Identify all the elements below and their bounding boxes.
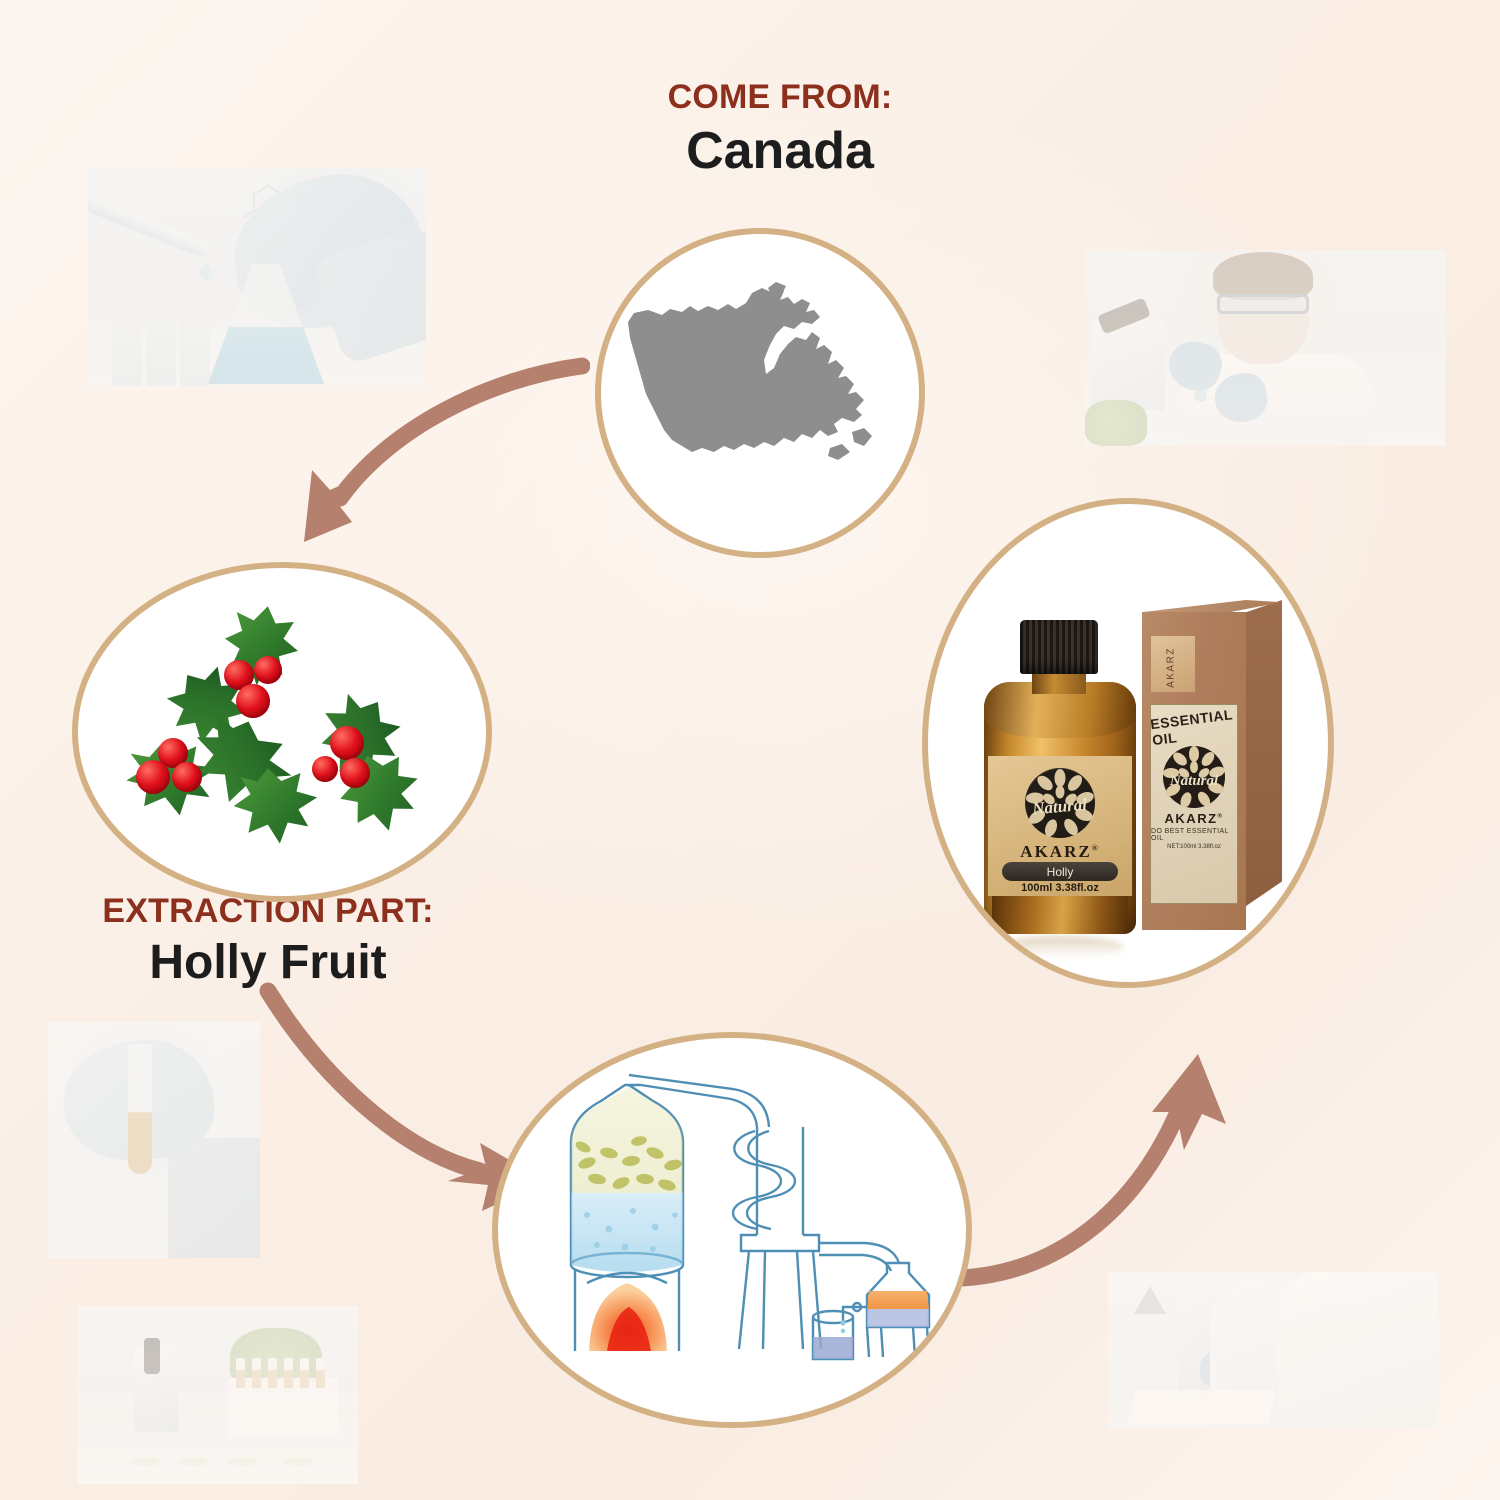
photo-hazmat-researchers [1108, 1272, 1438, 1428]
extraction-value: Holly Fruit [58, 935, 478, 990]
photo-lab-bench [78, 1306, 358, 1484]
box-tab-label: AKARZ [1166, 646, 1177, 690]
box-tagline: DO BEST ESSENTIAL OIL [1151, 828, 1237, 842]
origin-heading: COME FROM: Canada [600, 78, 960, 181]
holly-berry [330, 726, 364, 760]
distillation-apparatus-icon [517, 1065, 947, 1395]
bottle-variant-band: Holly [1002, 862, 1118, 881]
liquid-drop [200, 264, 212, 280]
holly-berry [340, 758, 370, 788]
photo-hand-testtube [48, 1022, 260, 1258]
natural-seal-graphic: Natural [1025, 768, 1095, 838]
test-tube [128, 1044, 152, 1174]
petri-dish [228, 1457, 258, 1466]
bottle-brand: AKARZ® [1020, 842, 1099, 862]
bottle-base [992, 892, 1128, 934]
product-bottle: Natural AKARZ® Holly 100ml 3.38fl.oz [980, 620, 1140, 938]
scientist-hair [1213, 252, 1313, 300]
warning-triangle-icon [1134, 1286, 1166, 1314]
glass-vial [146, 298, 176, 386]
bottle-volume: 100ml 3.38fl.oz [1021, 882, 1099, 894]
test-tube [316, 1358, 325, 1388]
bottle-label: Natural AKARZ® Holly 100ml 3.38fl.oz [988, 756, 1132, 896]
test-tube [252, 1358, 261, 1388]
extraction-heading: EXTRACTION PART: Holly Fruit [58, 892, 478, 990]
box-seal-tab: AKARZ [1151, 636, 1195, 692]
origin-circle [595, 228, 925, 558]
paper-sheet [1128, 1390, 1275, 1424]
test-tube [284, 1358, 293, 1388]
safety-goggles [1217, 294, 1309, 314]
holly-leaves-icon [102, 598, 462, 866]
petri-dish [130, 1457, 160, 1466]
glass-vial [180, 306, 210, 386]
photo-scientist-testtube [1085, 250, 1445, 446]
canada-map-icon [624, 282, 896, 504]
holly-berry [236, 684, 270, 718]
origin-value: Canada [600, 121, 960, 181]
test-tube [236, 1358, 245, 1388]
test-tube [300, 1358, 309, 1388]
box-title: ESSENTIAL OIL [1149, 706, 1238, 748]
product-circle: AKARZ ESSENTIAL OIL [922, 498, 1334, 988]
test-tube [268, 1358, 277, 1388]
plant-sample [1085, 400, 1147, 446]
holly-composition [102, 598, 462, 866]
pipette-icon [88, 197, 210, 258]
glass-vial [112, 312, 142, 386]
protective-suit [1278, 1272, 1438, 1428]
origin-kicker-label: COME FROM: [600, 78, 960, 117]
plant-circle [72, 562, 492, 902]
holly-berry [172, 762, 202, 792]
natural-seal-icon: Natural [1025, 768, 1095, 838]
box-front-panel: AKARZ ESSENTIAL OIL [1142, 612, 1246, 930]
natural-seal-icon: Natural [1162, 745, 1226, 809]
bottle-variant: Holly [1047, 865, 1074, 879]
box-label: ESSENTIAL OIL Natural [1150, 704, 1238, 904]
photo-pipette-flask [88, 168, 426, 386]
distillation-circle [492, 1032, 972, 1428]
box-side-panel [1246, 600, 1282, 906]
holly-berry [254, 656, 282, 684]
box-net-volume: NET:100ml 3.38fl.oz [1167, 844, 1221, 850]
product-box: AKARZ ESSENTIAL OIL [1142, 600, 1280, 930]
microscope-eyepiece [144, 1338, 160, 1374]
box-brand: AKARZ® [1165, 811, 1224, 826]
bottle-reflection [996, 936, 1124, 958]
microscope [1091, 318, 1165, 410]
product-stage: AKARZ ESSENTIAL OIL [928, 504, 1328, 982]
microscope [168, 1138, 260, 1258]
petri-dish [283, 1457, 313, 1466]
box-seal-text: Natural [1169, 773, 1219, 789]
holly-berry [312, 756, 338, 782]
petri-dish [178, 1457, 208, 1466]
bottle-cap [1020, 620, 1098, 674]
test-tube-rack [228, 1378, 338, 1438]
holly-berry [136, 760, 170, 794]
